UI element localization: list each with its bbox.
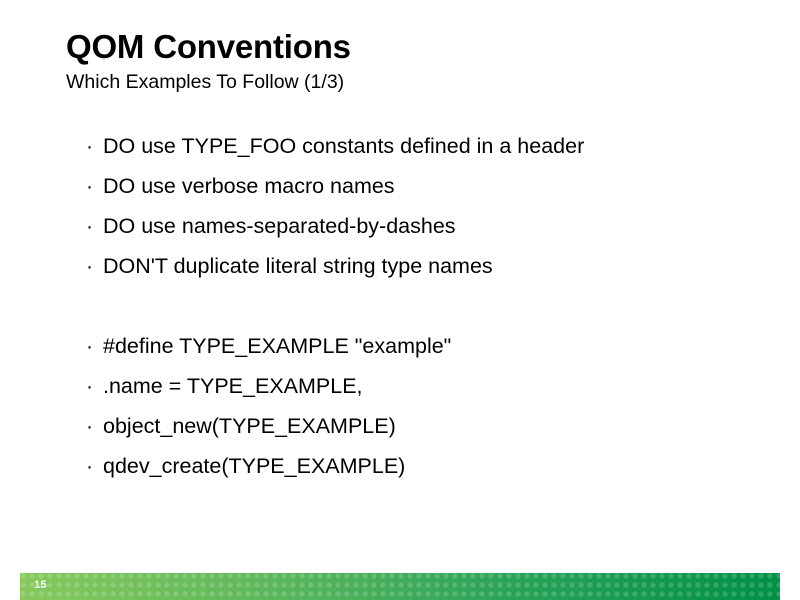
bullet-dot-icon: · [86,247,103,287]
list-item: ·DON'T duplicate literal string type nam… [86,246,746,286]
list-item: ·DO use verbose macro names [86,166,746,206]
list-item-label: object_new(TYPE_EXAMPLE) [103,406,396,446]
title-block: QOM Conventions Which Examples To Follow… [66,28,766,94]
bullet-spacer [86,286,746,326]
bullet-dot-icon: · [86,447,103,487]
bullet-dot-icon: · [86,407,103,447]
bullet-dot-icon: · [86,207,103,247]
bullet-dot-icon: · [86,327,103,367]
list-item-label: qdev_create(TYPE_EXAMPLE) [103,446,405,486]
list-item-label: DO use TYPE_FOO constants defined in a h… [103,126,584,166]
list-item: ·qdev_create(TYPE_EXAMPLE) [86,446,746,486]
bullet-list: ·DO use TYPE_FOO constants defined in a … [86,126,746,486]
list-item: ·object_new(TYPE_EXAMPLE) [86,406,746,446]
bullet-dot-icon: · [86,127,103,167]
list-item: ·DO use TYPE_FOO constants defined in a … [86,126,746,166]
list-item: ·.name = TYPE_EXAMPLE, [86,366,746,406]
list-item-label: DO use verbose macro names [103,166,395,206]
list-item-label: .name = TYPE_EXAMPLE, [103,366,363,406]
bullet-dot-icon: · [86,167,103,207]
list-item-label: DO use names-separated-by-dashes [103,206,456,246]
slide-canvas: QOM Conventions Which Examples To Follow… [0,0,800,600]
list-item-label: #define TYPE_EXAMPLE "example" [103,326,451,366]
page-number: 15 [34,577,47,593]
page-subtitle: Which Examples To Follow (1/3) [66,70,766,94]
footer-bar: 15 [20,573,780,600]
list-item: ·DO use names-separated-by-dashes [86,206,746,246]
list-item-label: DON'T duplicate literal string type name… [103,246,493,286]
list-item: ·#define TYPE_EXAMPLE "example" [86,326,746,366]
page-title: QOM Conventions [66,28,766,66]
bullet-dot-icon: · [86,367,103,407]
